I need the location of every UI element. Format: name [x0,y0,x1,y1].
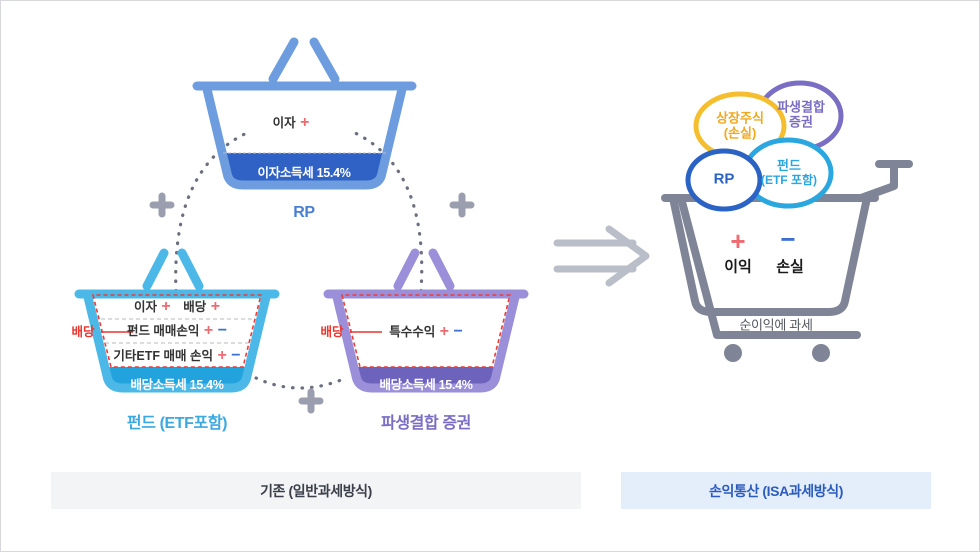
bubble-stock-label: 상장주식 (손실) [716,111,764,140]
caption-existing-method: 기존 (일반과세방식) [51,472,581,509]
bubble-derivative-label: 파생결합 증권 [777,100,825,129]
diagram-vector-layer [1,1,980,553]
fund-basket-name: 펀드 (ETF포함) [127,416,227,432]
fund-tax-band-label: 배당소득세 15.4% [130,379,223,392]
bubble-fund-line1: 펀드 [761,159,817,174]
derivative-tax-band-label: 배당소득세 15.4% [379,379,472,392]
cart-loss-label: 손실 [776,260,804,275]
bubble-rp-label: RP [714,172,735,189]
rp-basket-name: RP [293,205,314,221]
cart-loss-symbol: − [780,226,795,252]
diagram-canvas: 이자 + 이자소득세 15.4% RP 이자 + 배당 + 펀드 매매손익 + … [0,0,980,552]
cart-profit-label: 이익 [724,260,752,275]
derivative-row-1: 특수수익 + − [389,324,463,340]
bubble-fund-line2: (ETF 포함) [761,174,817,187]
fund-row-3: 기타ETF 매매 손익 + − [113,348,240,364]
fund-row-2: 펀드 매매손익 + − [127,323,227,339]
caption-isa-method: 손익통산 (ISA과세방식) [621,472,931,509]
cart-profit-symbol: + [730,228,745,254]
transition-arrow [557,229,646,283]
fund-row-1: 이자 + 배당 + [134,299,220,315]
bubble-derivative-line1: 파생결합 [777,100,825,115]
rp-row-label: 이자 + [273,115,310,131]
bubble-stock-line1: 상장주식 [716,111,764,126]
rp-tax-band-label: 이자소득세 15.4% [257,167,350,180]
derivative-basket-name: 파생결합 증권 [381,416,471,432]
bubble-derivative-line2: 증권 [777,115,825,130]
derivative-dividend-annotation: 배당 [320,326,343,339]
bubble-fund-label: 펀드 (ETF 포함) [761,159,817,187]
cart-tax-note: 순이익에 과세 [739,319,812,332]
bubble-stock-line2: (손실) [716,126,764,141]
fund-dividend-annotation: 배당 [71,326,94,339]
